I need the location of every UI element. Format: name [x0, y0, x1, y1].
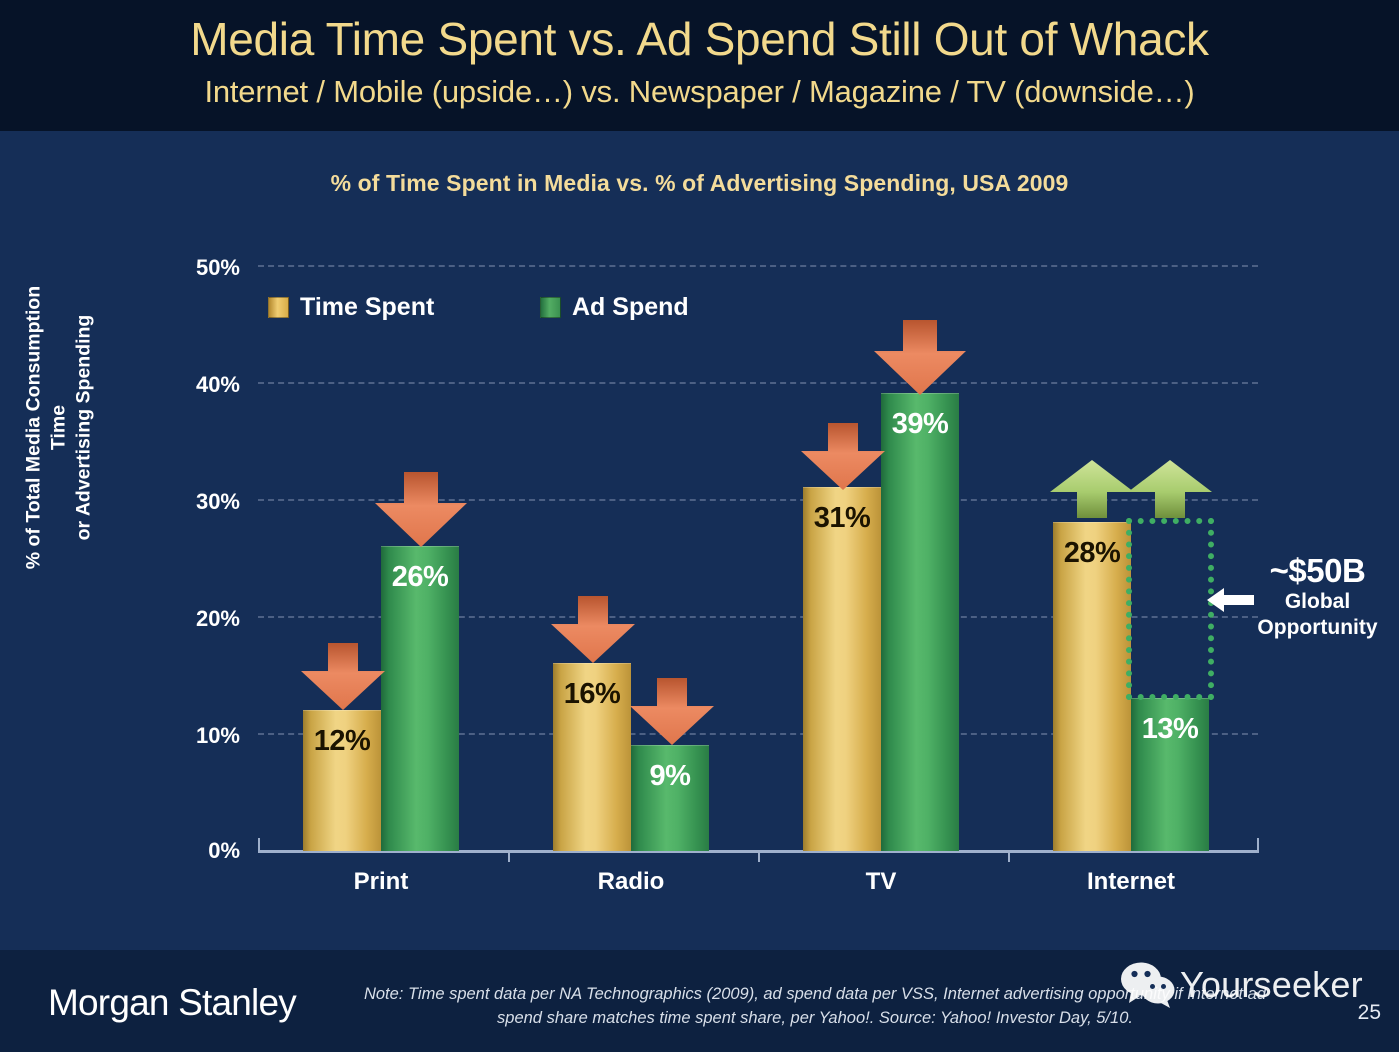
down-arrow-radio-time-spent [547, 594, 639, 666]
slide: Media Time Spent vs. Ad Spend Still Out … [0, 0, 1399, 1052]
callout-amount: ~$50B [1236, 553, 1399, 589]
y-tick-30: 30% [160, 489, 240, 515]
y-tick-40: 40% [160, 372, 240, 398]
bar-label-tv-time-spent: 31% [803, 502, 881, 535]
down-arrow-tv-time-spent [797, 421, 889, 493]
axis-tick-3 [1008, 850, 1010, 862]
down-arrow-print-ad-spend [371, 470, 471, 550]
bar-label-print-time-spent: 12% [303, 725, 381, 758]
y-tick-50: 50% [160, 255, 240, 281]
opportunity-box [1126, 518, 1214, 700]
down-arrow-tv-ad-spend [870, 318, 970, 398]
gridline-40 [258, 382, 1258, 384]
y-axis-ticks: 50% 40% 30% 20% 10% 0% [160, 0, 240, 1052]
y-tick-10: 10% [160, 723, 240, 749]
axis-tick-2 [758, 850, 760, 862]
y-tick-20: 20% [160, 606, 240, 632]
bar-label-internet-time-spent: 28% [1053, 537, 1131, 570]
axis-endcap-right [1257, 838, 1259, 851]
bar-tv-ad-spend: 39% [881, 393, 959, 851]
x-label-print: Print [281, 868, 481, 896]
bar-radio-time-spent: 16% [553, 663, 631, 851]
watermark-text: Yourseeker [1180, 964, 1363, 1006]
bar-label-radio-time-spent: 16% [553, 678, 631, 711]
x-label-tv: TV [781, 868, 981, 896]
bar-label-internet-ad-spend: 13% [1131, 713, 1209, 746]
x-label-internet: Internet [1031, 868, 1231, 896]
bar-print-ad-spend: 26% [381, 546, 459, 851]
bar-internet-ad-spend: 13% [1131, 698, 1209, 851]
y-tick-0: 0% [160, 838, 240, 864]
callout-line-global: Global [1236, 589, 1399, 615]
axis-endcap-left [258, 838, 260, 851]
callout-line-opportunity: Opportunity [1236, 615, 1399, 641]
bar-tv-time-spent: 31% [803, 487, 881, 851]
bar-label-radio-ad-spend: 9% [631, 760, 709, 793]
bar-print-time-spent: 12% [303, 710, 381, 851]
wechat-icon [1120, 962, 1176, 1008]
axis-tick-1 [508, 850, 510, 862]
legend-item-time-spent: Time Spent [268, 293, 434, 322]
legend-label-ad-spend: Ad Spend [572, 293, 689, 322]
y-axis-title: % of Total Media Consumption Time or Adv… [22, 263, 97, 593]
footnote-line2: spend share matches time spent share, pe… [310, 1006, 1320, 1030]
legend-label-time-spent: Time Spent [300, 293, 434, 322]
bar-label-tv-ad-spend: 39% [881, 408, 959, 441]
y-axis-title-line1: % of Total Media Consumption Time [22, 263, 72, 593]
down-arrow-radio-ad-spend [626, 676, 718, 748]
brand-logo: Morgan Stanley [48, 982, 296, 1024]
legend-item-ad-spend: Ad Spend [540, 293, 689, 322]
watermark: Yourseeker [1120, 962, 1363, 1008]
y-axis-title-line2: or Advertising Spending [72, 263, 97, 593]
down-arrow-print-time-spent [297, 641, 389, 713]
legend-swatch-ad-spend-icon [540, 297, 561, 318]
x-label-radio: Radio [531, 868, 731, 896]
legend-swatch-time-spent-icon [268, 297, 289, 318]
callout-global-opportunity: ~$50B Global Opportunity [1236, 553, 1399, 641]
bar-radio-ad-spend: 9% [631, 745, 709, 851]
bar-label-print-ad-spend: 26% [381, 561, 459, 594]
gridline-50 [258, 265, 1258, 267]
up-arrow-internet-ad-spend [1124, 458, 1216, 520]
bar-internet-time-spent: 28% [1053, 522, 1131, 851]
